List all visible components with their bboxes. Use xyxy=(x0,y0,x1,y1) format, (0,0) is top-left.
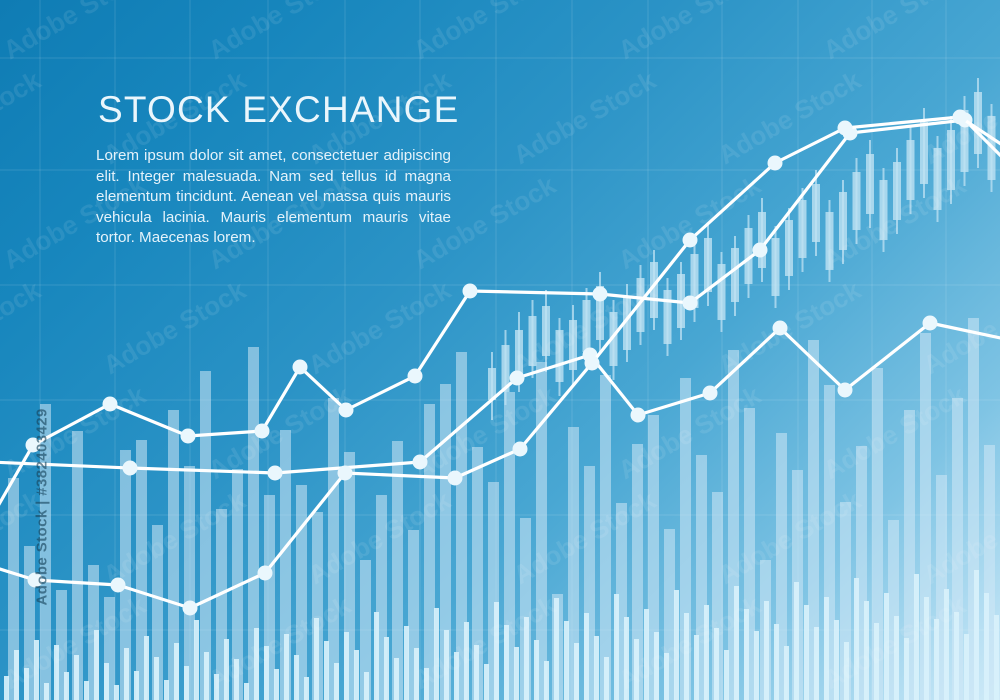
body-paragraph: Lorem ipsum dolor sit amet, consectetuer… xyxy=(96,146,451,249)
body-paragraph-text: Lorem ipsum dolor sit amet, consectetuer… xyxy=(96,146,451,249)
page-title: STOCK EXCHANGE xyxy=(98,89,460,131)
text-layer: STOCK EXCHANGE Lorem ipsum dolor sit ame… xyxy=(0,0,1000,700)
stock-exchange-banner: Adobe StockAdobe StockAdobe StockAdobe S… xyxy=(0,0,1000,700)
adobe-stock-watermark-id: Adobe Stock | #382403429 xyxy=(34,336,51,606)
